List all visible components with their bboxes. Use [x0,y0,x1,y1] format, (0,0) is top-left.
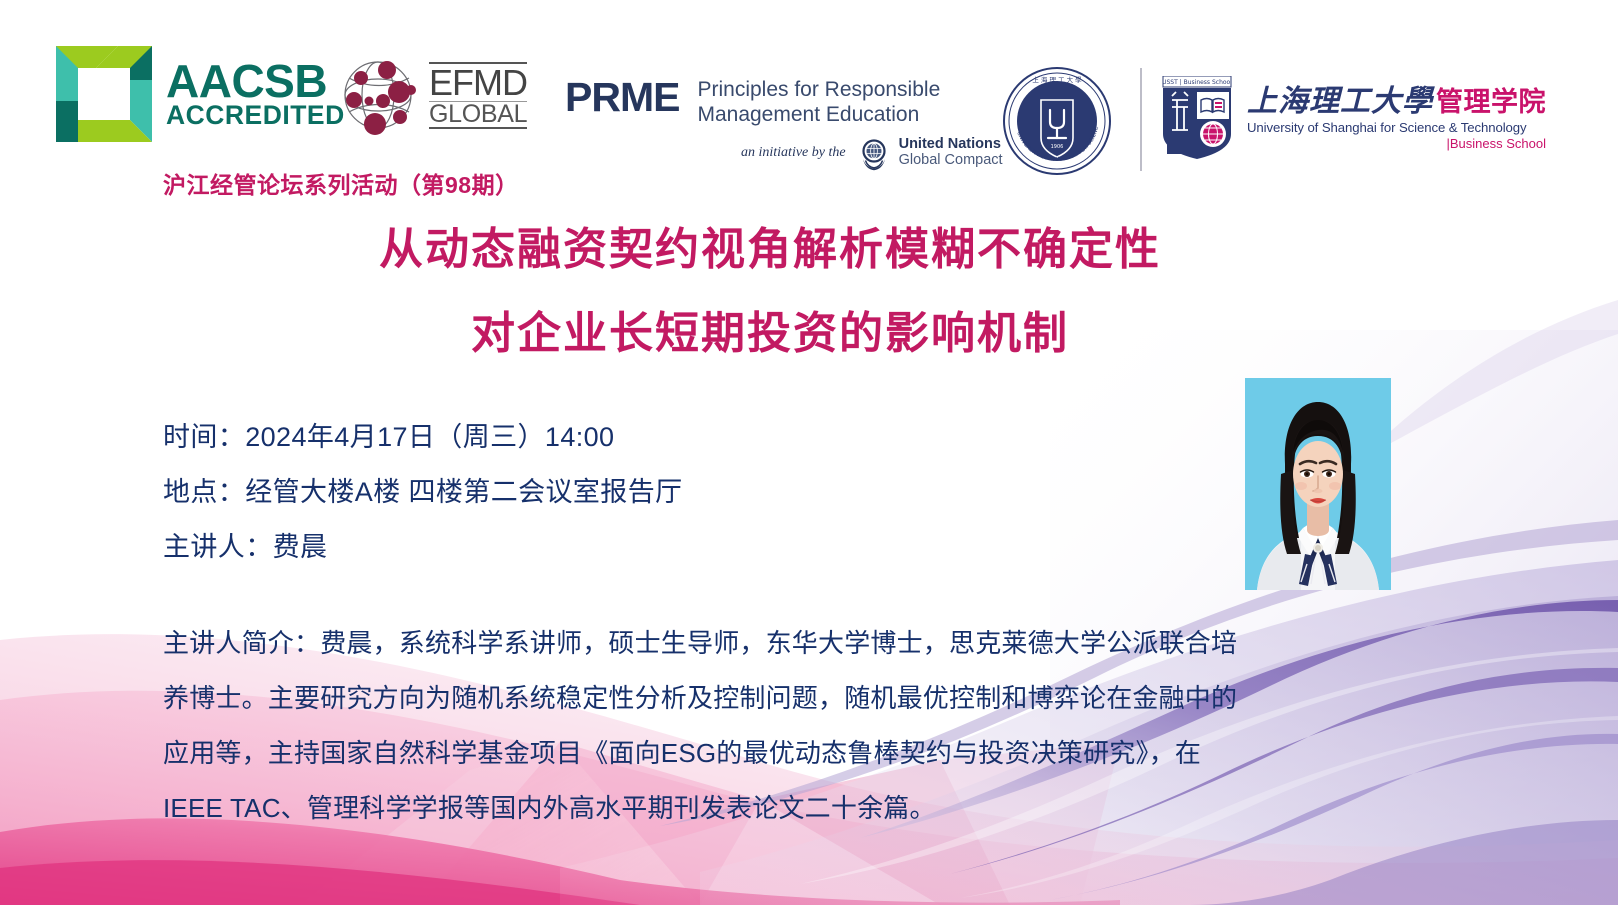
prme-logo: PRME Principles for Responsible Manageme… [565,78,1003,171]
usst-school-cn: 管理学院 [1436,88,1546,116]
usst-university-seal-icon: 1906 上 海 理 工 大 學 UNIVERSITY OF SHANGHAI … [1002,66,1112,176]
title-line-1: 从动态融资契约视角解析模糊不确定性 [0,228,1540,272]
prme-initiative-text: an initiative by the [741,145,846,161]
accreditation-logo-bar: AACSB ACCREDITED [0,28,1618,163]
logo-divider [1140,68,1142,171]
svg-text:1906: 1906 [1051,144,1064,150]
prme-description-line-2: Management Education [697,103,940,128]
un-line-2: Global Compact [899,153,1003,169]
event-poster: AACSB ACCREDITED [0,0,1618,905]
series-label: 沪江经管论坛系列活动（第98期） [163,166,519,200]
usst-name-en: University of Shanghai for Science & Tec… [1247,121,1546,135]
event-details: 时间：2024年4月17日（周三）14:00 地点：经管大楼A楼 四楼第二会议室… [163,424,683,589]
svg-text:上 海 理 工 大 學: 上 海 理 工 大 學 [1032,75,1082,84]
bio-line-1: 主讲人简介：费晨，系统科学系讲师，硕士生导师，东华大学博士，思克莱德大学公派联合… [163,630,1411,656]
efmd-name: EFMD [429,62,527,102]
event-title: 从动态融资契约视角解析模糊不确定性 对企业长短期投资的影响机制 [0,228,1540,356]
event-speaker: 主讲人：费晨 [163,534,683,561]
aacsb-diamond-icon [56,46,152,142]
un-global-compact-globe-icon [856,135,892,171]
efmd-logo: EFMD GLOBAL [337,54,527,137]
efmd-global: GLOBAL [429,102,527,129]
bio-line-2: 养博士。主要研究方向为随机系统稳定性分析及控制问题，随机最优控制和博弈论在金融中… [163,685,1411,711]
speaker-biography: 主讲人简介：费晨，系统科学系讲师，硕士生导师，东华大学博士，思克莱德大学公派联合… [163,630,1411,850]
prme-description-line-1: Principles for Responsible [697,78,940,103]
speaker-portrait-photo [1245,378,1391,590]
bio-line-3: 应用等，主持国家自然科学基金项目《面向ESG的最优动态鲁棒契约与投资决策研究》，… [163,740,1411,766]
bio-line-4: IEEE TAC、管理科学学报等国内外高水平期刊发表论文二十余篇。 [163,795,1411,821]
usst-school-en: |Business School [1247,137,1546,151]
title-line-2: 对企业长短期投资的影响机制 [0,312,1540,356]
event-location: 地点：经管大楼A楼 四楼第二会议室报告厅 [163,479,683,506]
aacsb-logo: AACSB ACCREDITED [56,46,345,142]
event-time: 时间：2024年4月17日（周三）14:00 [163,424,683,451]
aacsb-accredited: ACCREDITED [166,103,345,128]
usst-name-cn: 上海理工大學 [1247,86,1433,118]
usst-business-school-shield-icon: USST | Business School [1157,76,1237,160]
usst-business-school-logo: USST | Business School [1157,76,1546,160]
aacsb-name: AACSB [166,59,345,103]
prme-wordmark: PRME [565,78,679,117]
efmd-network-sphere-icon [337,54,420,137]
un-line-1: United Nations [899,137,1003,153]
svg-text:USST | Business School: USST | Business School [1162,79,1232,86]
